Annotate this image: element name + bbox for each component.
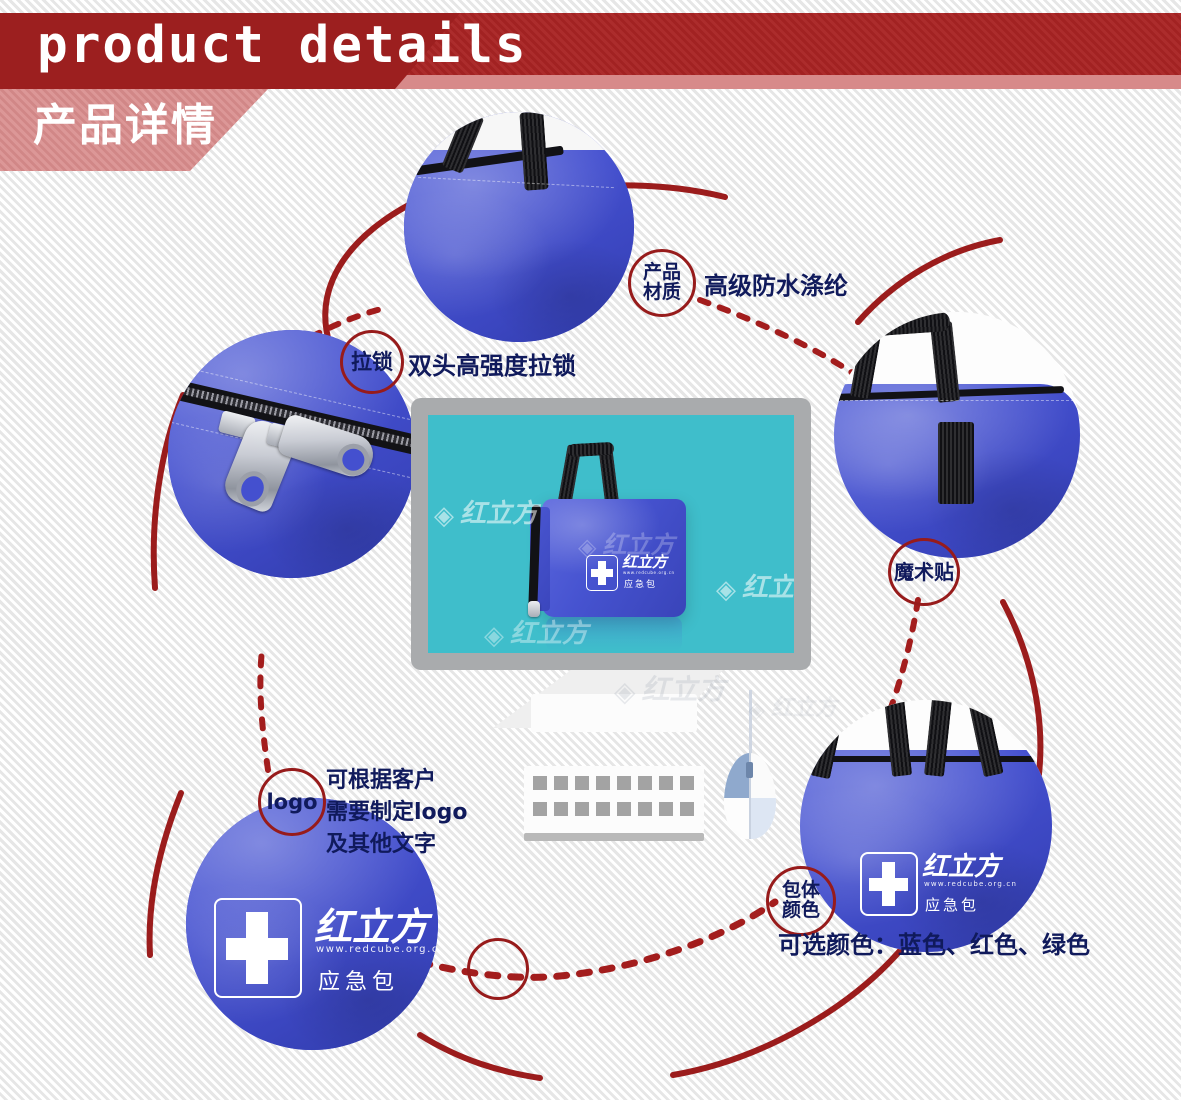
badge-label: logo <box>266 791 317 813</box>
key <box>575 802 589 816</box>
key <box>554 776 568 790</box>
mouse-wheel <box>746 762 753 778</box>
dash-logo-up <box>260 650 268 770</box>
stitch-seam <box>840 400 1074 401</box>
key <box>659 802 673 816</box>
key <box>680 776 694 790</box>
keyboard-keys <box>533 776 697 824</box>
logo-text-line-1: 可根据客户 <box>326 762 468 794</box>
cube-icon: ◈ <box>716 575 736 605</box>
key <box>638 802 652 816</box>
badge-line-1: 包体 <box>782 881 820 901</box>
key <box>596 776 610 790</box>
badge-label: 拉锁 <box>351 351 393 373</box>
bag-reflection <box>546 617 682 651</box>
cube-icon: ◈ <box>434 501 454 531</box>
arc-lower-left <box>150 793 181 955</box>
product-details-page: product details 产品详情 <box>0 0 1181 1100</box>
first-aid-cross-icon <box>860 852 918 916</box>
brand-script-logo: 红立方 <box>314 896 428 951</box>
keyboard-edge <box>524 833 704 841</box>
watermark: ◈红立方 <box>716 567 794 604</box>
badge-line-2: 颜色 <box>782 901 820 921</box>
key <box>533 802 547 816</box>
monitor-neck-front <box>531 694 697 732</box>
badge-line-2: 材质 <box>643 283 681 303</box>
mouse-lower-left <box>724 798 750 839</box>
product-photo-velcro[interactable] <box>834 312 1080 558</box>
product-photo-bag-color[interactable]: 红立方 www.redcube.org.cn 应急包 <box>800 700 1052 952</box>
decorative-circle <box>467 938 529 1000</box>
cube-icon: ◈ <box>484 621 504 651</box>
badge-label: 魔术贴 <box>894 562 954 583</box>
callout-text-logo: 可根据客户 需要制定logo 及其他文字 <box>326 762 468 858</box>
key <box>575 776 589 790</box>
key <box>617 802 631 816</box>
key <box>617 776 631 790</box>
brand-url: www.redcube.org.cn <box>623 570 675 575</box>
badge-line-1: 产品 <box>643 263 681 283</box>
first-aid-cross-icon <box>214 898 302 998</box>
cross-horizontal <box>869 878 908 891</box>
arc-bottom-right <box>673 945 905 1075</box>
first-aid-cross-icon <box>586 555 618 591</box>
key <box>596 802 610 816</box>
brand-product-name: 应急包 <box>318 964 399 996</box>
brand-product-name: 应急包 <box>624 577 657 590</box>
brand-url: www.redcube.org.cn <box>924 880 1017 888</box>
key <box>554 802 568 816</box>
cross-horizontal <box>591 569 613 577</box>
logo-text-line-2: 需要制定logo <box>326 794 468 826</box>
handle-strap-icon <box>568 442 615 457</box>
brand-url: www.redcube.org.cn <box>316 944 438 955</box>
logo-text-line-3: 及其他文字 <box>326 826 468 858</box>
callout-badge-material[interactable]: 产品 材质 <box>628 249 696 317</box>
brand-script-logo: 红立方 <box>622 551 667 572</box>
key <box>659 776 673 790</box>
monitor-screen: 红立方 www.redcube.org.cn 应急包 ◈红立方 ◈红立方 ◈红立… <box>428 415 794 653</box>
zipper-slider <box>528 601 540 617</box>
key <box>533 776 547 790</box>
callout-badge-velcro[interactable]: 魔术贴 <box>888 538 960 606</box>
callout-text-zipper: 双头高强度拉锁 <box>408 346 576 381</box>
cross-horizontal <box>226 938 288 960</box>
key <box>680 802 694 816</box>
fabric-highlight <box>404 112 634 342</box>
velcro-strap-icon <box>938 422 974 504</box>
callout-badge-zipper[interactable]: 拉锁 <box>340 330 404 394</box>
product-bag-photo: 红立方 www.redcube.org.cn 应急包 <box>520 443 710 643</box>
arc-upper-right <box>858 240 1000 322</box>
arc-bottom-left <box>420 1035 540 1078</box>
zipper-icon <box>804 756 1044 762</box>
callout-text-bag-color: 可选颜色：蓝色、红色、绿色 <box>778 925 1090 960</box>
mouse-lower-right <box>750 798 776 839</box>
callout-badge-logo[interactable]: logo <box>258 768 326 836</box>
product-photo-material[interactable] <box>404 112 634 342</box>
callout-text-material: 高级防水涤纶 <box>704 266 848 301</box>
brand-script-logo: 红立方 <box>922 846 1000 883</box>
key <box>638 776 652 790</box>
brand-product-name: 应急包 <box>925 894 979 915</box>
mouse-cord <box>749 690 752 754</box>
